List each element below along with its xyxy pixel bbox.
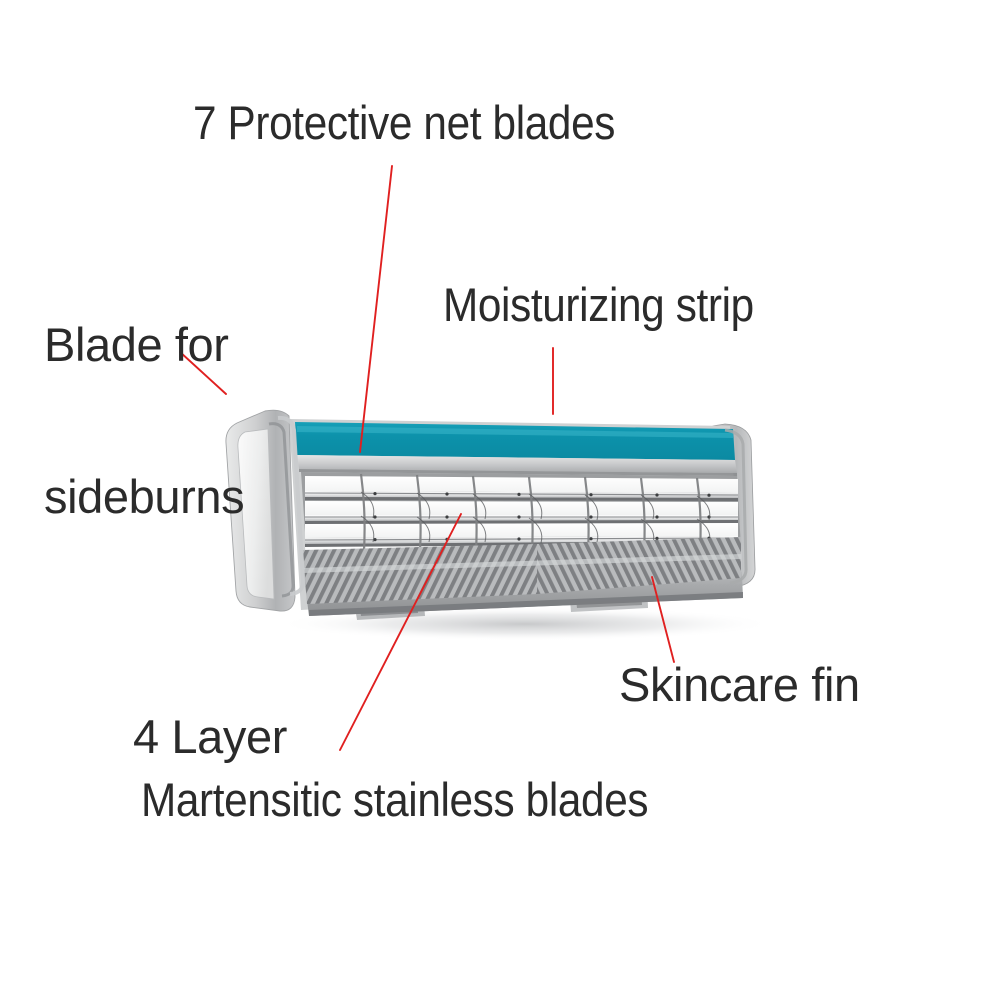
callout-blade-for-sideburns: Blade for sideburns [44, 218, 244, 624]
callout-sideburn-line-1: Blade for [44, 320, 244, 371]
callout-blade-stack-line-1: 4 Layer [133, 712, 287, 763]
callout-blade-stack-line-2: Martensitic stainless blades [141, 775, 648, 826]
razor-cartridge-illustration [185, 372, 805, 647]
diagram-canvas: 7 Protective net blades Blade for sidebu… [0, 0, 1000, 1000]
callout-moisturizing-strip: Moisturizing strip [443, 280, 754, 331]
callout-protective-net-blades: 7 Protective net blades [193, 98, 615, 149]
callout-sideburn-line-2: sideburns [44, 472, 244, 523]
callout-skincare-fin: Skincare fin [619, 660, 860, 711]
